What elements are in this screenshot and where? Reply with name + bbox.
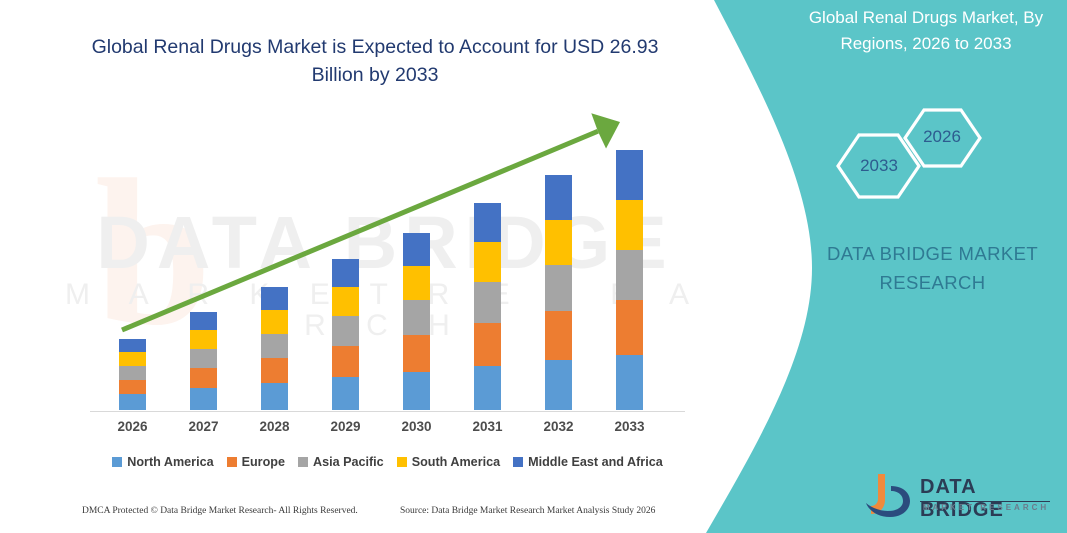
x-tick-2028: 2028	[245, 419, 305, 434]
legend-swatch-icon	[513, 457, 523, 467]
legend-label: North America	[127, 455, 213, 469]
logo-divider	[920, 501, 1050, 502]
hexagon-badges: 2033 2026	[820, 88, 1020, 208]
logo-subtitle: MARKET RESEARCH	[920, 503, 1052, 512]
trend-arrow-line	[122, 131, 598, 330]
chart-title: Global Renal Drugs Market is Expected to…	[75, 33, 675, 90]
hexagon-label-2033: 2033	[844, 156, 914, 176]
hexagon-label-2026: 2026	[907, 127, 977, 147]
panel-brand-text: DATA BRIDGE MARKET RESEARCH	[800, 240, 1065, 297]
x-tick-2033: 2033	[600, 419, 660, 434]
legend-swatch-icon	[298, 457, 308, 467]
legend-swatch-icon	[112, 457, 122, 467]
data-bridge-logo: DATA BRIDGE MARKET RESEARCH	[860, 470, 1060, 526]
legend-item[interactable]: South America	[397, 455, 500, 469]
panel-title: Global Renal Drugs Market, By Regions, 2…	[795, 5, 1057, 56]
trend-arrow	[90, 110, 685, 412]
legend-item[interactable]: Europe	[227, 455, 285, 469]
panel-brand-line-2: RESEARCH	[800, 269, 1065, 298]
logo-mark-icon	[860, 470, 916, 524]
x-axis-tick-labels: 20262027202820292030203120322033	[90, 419, 685, 439]
legend-item[interactable]: Asia Pacific	[298, 455, 384, 469]
x-tick-2026: 2026	[103, 419, 163, 434]
infographic-root: b DATA BRIDGE M A R K E T R E S E A R C …	[0, 0, 1067, 533]
legend-label: South America	[412, 455, 500, 469]
legend-swatch-icon	[397, 457, 407, 467]
footer-copyright: DMCA Protected © Data Bridge Market Rese…	[82, 506, 358, 516]
x-tick-2029: 2029	[316, 419, 376, 434]
x-tick-2027: 2027	[174, 419, 234, 434]
panel-brand-line-1: DATA BRIDGE MARKET	[800, 240, 1065, 269]
footer: DMCA Protected © Data Bridge Market Rese…	[0, 506, 700, 526]
legend-label: Europe	[242, 455, 285, 469]
footer-source: Source: Data Bridge Market Research Mark…	[400, 506, 655, 516]
legend-label: Asia Pacific	[313, 455, 384, 469]
legend-swatch-icon	[227, 457, 237, 467]
legend-item[interactable]: North America	[112, 455, 213, 469]
x-tick-2032: 2032	[529, 419, 589, 434]
logo-wordmark: DATA BRIDGE	[920, 476, 1060, 522]
chart-legend: North AmericaEuropeAsia PacificSouth Ame…	[90, 455, 685, 469]
x-tick-2031: 2031	[458, 419, 518, 434]
chart-plot-area	[90, 110, 685, 412]
x-tick-2030: 2030	[387, 419, 447, 434]
legend-item[interactable]: Middle East and Africa	[513, 455, 663, 469]
legend-label: Middle East and Africa	[528, 455, 663, 469]
